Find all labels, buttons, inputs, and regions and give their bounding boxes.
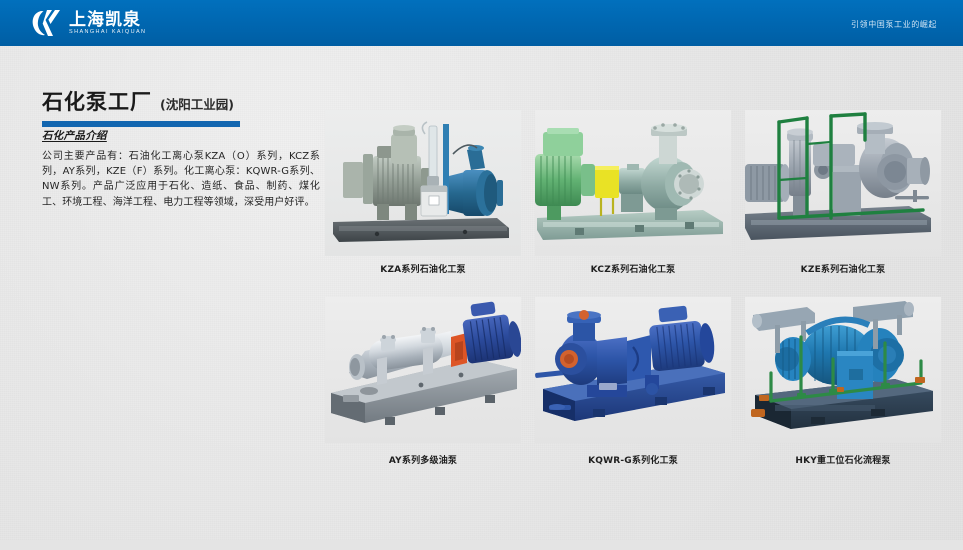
footer-strip (0, 540, 963, 550)
logo-chinese-text: 上海凯泉 (69, 11, 146, 29)
intro-heading: 石化产品介绍 (42, 128, 320, 143)
product-card-kza[interactable]: KZA系列石油化工泵 (318, 110, 528, 275)
pump-photo-kze (745, 110, 941, 256)
product-caption: KZA系列石油化工泵 (380, 262, 465, 275)
page-title-block: 石化泵工厂 (沈阳工业园) (42, 86, 312, 127)
product-card-kcz[interactable]: KCZ系列石油化工泵 (528, 110, 738, 275)
pump-photo-kza (325, 110, 521, 256)
product-row-1: KZA系列石油化工泵 (318, 110, 948, 275)
product-row-2: AY系列多级油泵 (318, 297, 948, 466)
brand-logo[interactable]: 上海凯泉 SHANGHAI KAIQUAN (28, 7, 146, 39)
pump-photo-hky (745, 297, 941, 443)
product-card-kze[interactable]: KZE系列石油化工泵 (738, 110, 948, 275)
product-caption: KQWR-G系列化工泵 (588, 453, 678, 466)
product-card-kqwrg[interactable]: KQWR-G系列化工泵 (528, 297, 738, 466)
title-underline-bar (42, 121, 240, 127)
product-caption: AY系列多级油泵 (389, 453, 457, 466)
pump-photo-ay (325, 297, 521, 443)
page-header: 上海凯泉 SHANGHAI KAIQUAN 引领中国泵工业的崛起 (0, 0, 963, 46)
product-card-hky[interactable]: HKY重工位石化流程泵 (738, 297, 948, 466)
logo-english-text: SHANGHAI KAIQUAN (69, 29, 146, 36)
pump-photo-kqwrg (535, 297, 731, 443)
product-caption: KZE系列石油化工泵 (801, 262, 886, 275)
page-subtitle: (沈阳工业园) (160, 94, 234, 113)
intro-block: 石化产品介绍 公司主要产品有：石油化工离心泵KZA（O）系列，KCZ系列，AY系… (42, 128, 320, 210)
slide-page: 上海凯泉 SHANGHAI KAIQUAN 引领中国泵工业的崛起 石化泵工厂 (… (0, 0, 963, 550)
product-caption: HKY重工位石化流程泵 (795, 453, 890, 466)
product-card-ay[interactable]: AY系列多级油泵 (318, 297, 528, 466)
kaiquan-mark-icon (28, 8, 62, 38)
intro-body: 公司主要产品有：石油化工离心泵KZA（O）系列，KCZ系列，AY系列，KZE（F… (42, 149, 320, 210)
page-title: 石化泵工厂 (42, 86, 152, 116)
product-grid: KZA系列石油化工泵 (318, 110, 948, 466)
header-slogan: 引领中国泵工业的崛起 (851, 19, 937, 30)
pump-photo-kcz (535, 110, 731, 256)
product-caption: KCZ系列石油化工泵 (591, 262, 676, 275)
